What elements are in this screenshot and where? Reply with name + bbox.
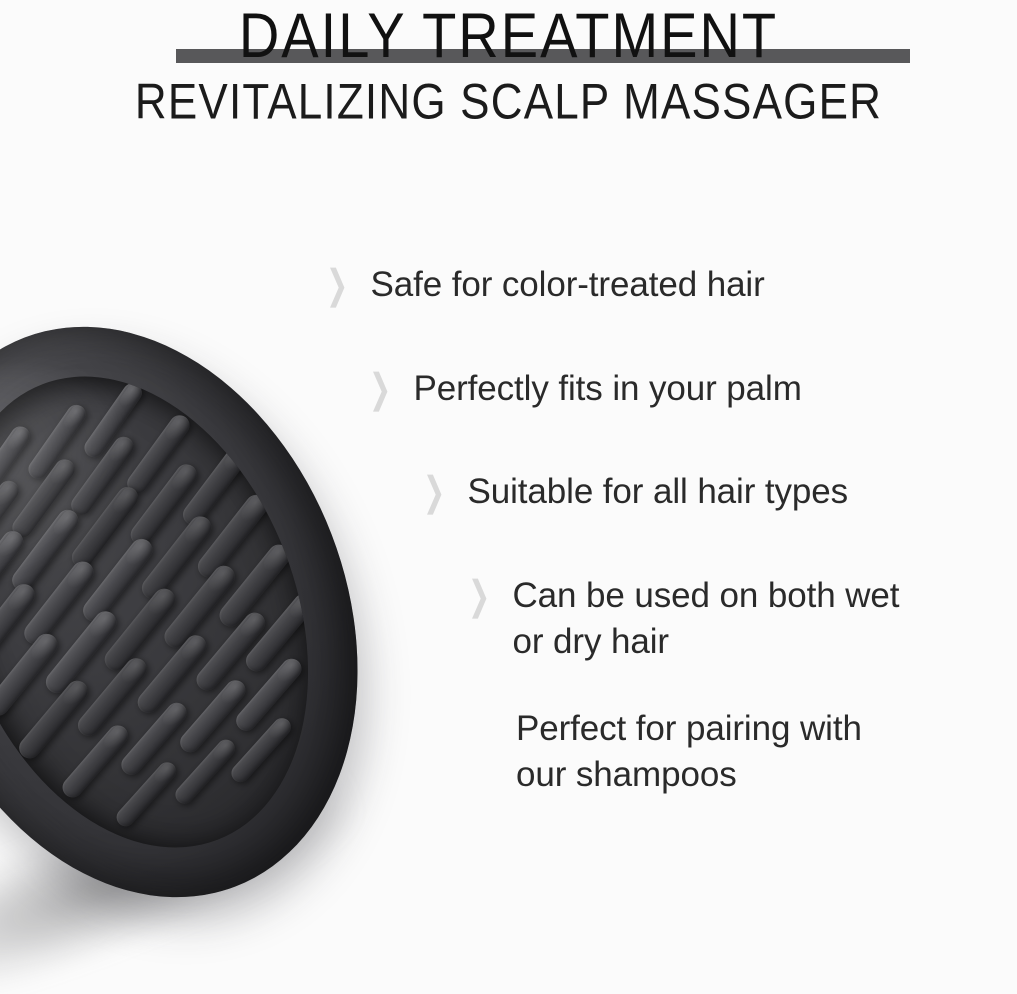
chevron-right-icon: ❯ — [369, 362, 391, 416]
feature-item: ❯Safe for color-treated hair — [326, 262, 765, 308]
feature-item-label: Perfect for pairing with our shampoos — [516, 706, 862, 798]
feature-item-label: Safe for color-treated hair — [371, 262, 765, 308]
feature-item: ❯Can be used on both wet or dry hair — [468, 573, 899, 665]
chevron-right-icon: ❯ — [423, 465, 445, 519]
feature-item: Perfect for pairing with our shampoos — [516, 706, 862, 798]
title-block: DAILY TREATMENT — [0, 2, 1017, 64]
chevron-right-icon: ❯ — [468, 569, 490, 623]
feature-item-label: Perfectly fits in your palm — [414, 366, 802, 412]
feature-item-label: Can be used on both wet or dry hair — [513, 573, 900, 665]
feature-item: ❯Suitable for all hair types — [423, 469, 848, 515]
page-subtitle: REVITALIZING SCALP MASSAGER — [0, 74, 1017, 131]
page-title: DAILY TREATMENT — [239, 2, 778, 69]
product-feature-graphic: DAILY TREATMENT REVITALIZING SCALP MASSA… — [0, 0, 1017, 994]
header: DAILY TREATMENT REVITALIZING SCALP MASSA… — [0, 0, 1017, 140]
chevron-right-icon: ❯ — [326, 258, 348, 312]
feature-item: ❯Perfectly fits in your palm — [369, 366, 802, 412]
feature-item-label: Suitable for all hair types — [468, 469, 849, 515]
